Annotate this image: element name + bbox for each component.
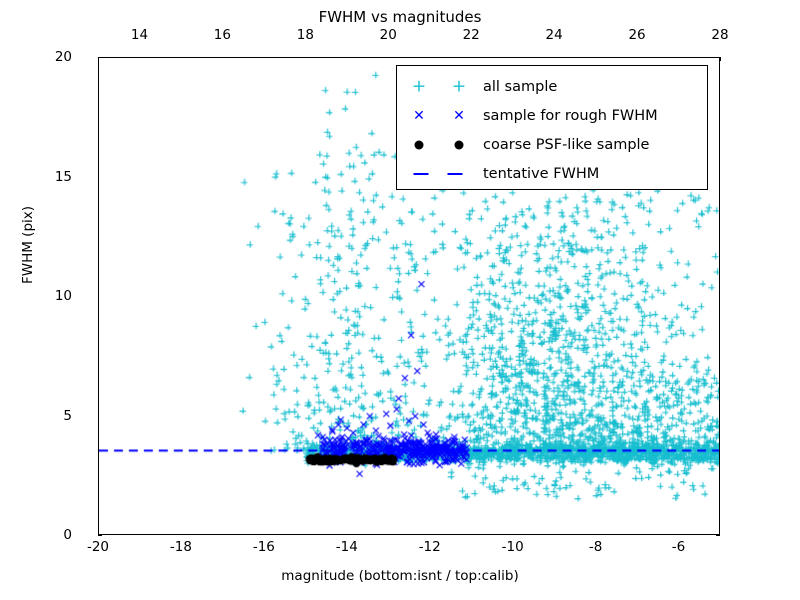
x-tick-label-top: 16 (214, 27, 231, 43)
chart-figure: FWHM vs magnitudes magnitude (bottom:isn… (0, 0, 800, 600)
legend-marker-dashed-line-icon (405, 163, 483, 185)
legend-label-coarse-psf: coarse PSF-like sample (483, 137, 649, 153)
legend-marker-cross-icon: ✕ ✕ (405, 105, 483, 127)
legend-item-all-sample: + + all sample (397, 72, 707, 101)
legend-item-rough-fwhm: ✕ ✕ sample for rough FWHM (397, 101, 707, 130)
y-tick-label: 20 (55, 49, 72, 65)
legend-label-all-sample: all sample (483, 79, 557, 95)
x-tick-label-top: 18 (297, 27, 314, 43)
x-tick-label-top: 28 (711, 27, 728, 43)
y-axis-label: FWHM (pix) (20, 145, 36, 345)
x-axis-label: magnitude (bottom:isnt / top:calib) (0, 568, 800, 584)
x-tick-label-bottom: -6 (672, 539, 685, 555)
x-tick-label-bottom: -8 (589, 539, 602, 555)
x-tick-label-top: 26 (628, 27, 645, 43)
chart-title: FWHM vs magnitudes (0, 8, 800, 26)
y-tick-label: 5 (63, 408, 72, 424)
x-tick-label-top: 20 (380, 27, 397, 43)
x-tick-label-top: 22 (463, 27, 480, 43)
x-tick-label-top: 14 (131, 27, 148, 43)
legend-item-tentative-fwhm: tentative FWHM (397, 159, 707, 188)
legend-marker-dot-icon (405, 134, 483, 156)
legend-item-coarse-psf: coarse PSF-like sample (397, 130, 707, 159)
x-tick-label-top: 24 (546, 27, 563, 43)
y-tick-label: 10 (55, 288, 72, 304)
x-tick-label-bottom: -20 (87, 539, 109, 555)
y-tick-label: 0 (63, 527, 72, 543)
legend-label-rough-fwhm: sample for rough FWHM (483, 108, 658, 124)
legend-label-tentative-fwhm: tentative FWHM (483, 166, 599, 182)
x-tick-label-bottom: -18 (170, 539, 192, 555)
x-tick-label-bottom: -10 (502, 539, 524, 555)
x-tick-label-bottom: -14 (336, 539, 358, 555)
x-tick-label-bottom: -16 (253, 539, 275, 555)
legend-marker-plus-icon: + + (405, 76, 483, 98)
y-tick-label: 15 (55, 169, 72, 185)
chart-legend: + + all sample ✕ ✕ sample for rough FWHM… (396, 65, 708, 190)
x-tick-label-bottom: -12 (419, 539, 441, 555)
